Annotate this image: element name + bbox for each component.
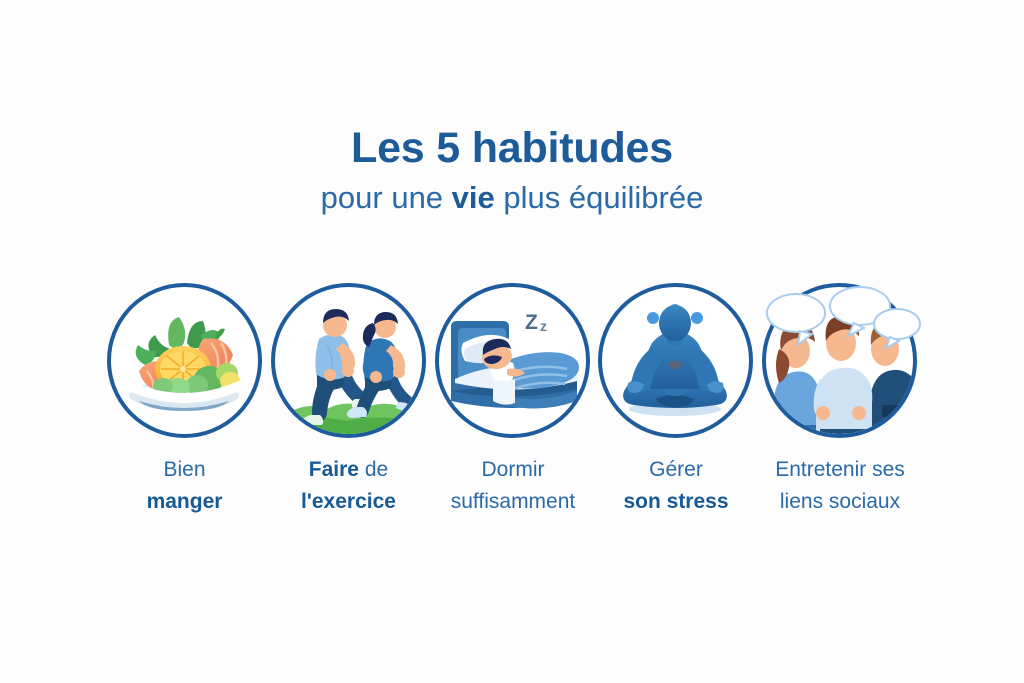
svg-text:z: z [540,318,547,334]
habit-caption-line1-bold: Faire [309,458,359,481]
habit-caption-line2: liens sociaux [740,486,940,518]
habit-caption-line2: manger [107,486,262,518]
page-title: Les 5 habitudes [0,126,1024,171]
habit-caption: Entretenir ses liens sociaux [740,454,940,517]
habit-caption-line1: Faire de [271,454,426,486]
habit-caption-line1: Bien [107,454,262,486]
meditation-lotus-icon [602,287,749,434]
infographic-canvas: Les 5 habitudes pour une vie plus équili… [0,0,1024,683]
speech-bubble-left [767,294,825,332]
zz-text: Z [525,311,538,334]
header: Les 5 habitudes pour une vie plus équili… [0,126,1024,216]
aura-dot-left [647,312,659,324]
aura-dot-right [691,312,703,324]
sleeping-person-icon: Z z [439,287,586,434]
habit-caption-line2: l'exercice [271,486,426,518]
habit-item-eat-well[interactable]: Bien manger [107,283,262,517]
habits-row: Bien manger [0,283,1024,533]
habit-icon-circle [762,283,917,438]
joggers-icon [275,287,422,434]
subtitle-emphasis: vie [452,180,495,215]
habit-caption-line1-rest: de [359,458,388,481]
subtitle-part-before: pour une [321,180,452,215]
habit-icon-circle [271,283,426,438]
people-talking-icon [766,287,913,434]
habit-item-exercise[interactable]: Faire de l'exercice [271,283,426,517]
habit-caption: Faire de l'exercice [271,454,426,517]
speech-bubble-right [874,309,920,339]
page-subtitle: pour une vie plus équilibrée [0,180,1024,216]
subtitle-part-after: plus équilibrée [495,180,704,215]
habit-icon-circle: Z z [435,283,590,438]
habit-caption: Bien manger [107,454,262,517]
habit-icon-circle [598,283,753,438]
habit-icon-circle [107,283,262,438]
healthy-plate-icon [111,287,258,434]
habit-caption-line1: Entretenir ses [740,454,940,486]
habit-item-social[interactable]: Entretenir ses liens sociaux [762,283,917,517]
habit-item-sleep[interactable]: Z z Dormir suffisamment [435,283,590,517]
habit-item-stress[interactable]: Gérer son stress [598,283,753,517]
